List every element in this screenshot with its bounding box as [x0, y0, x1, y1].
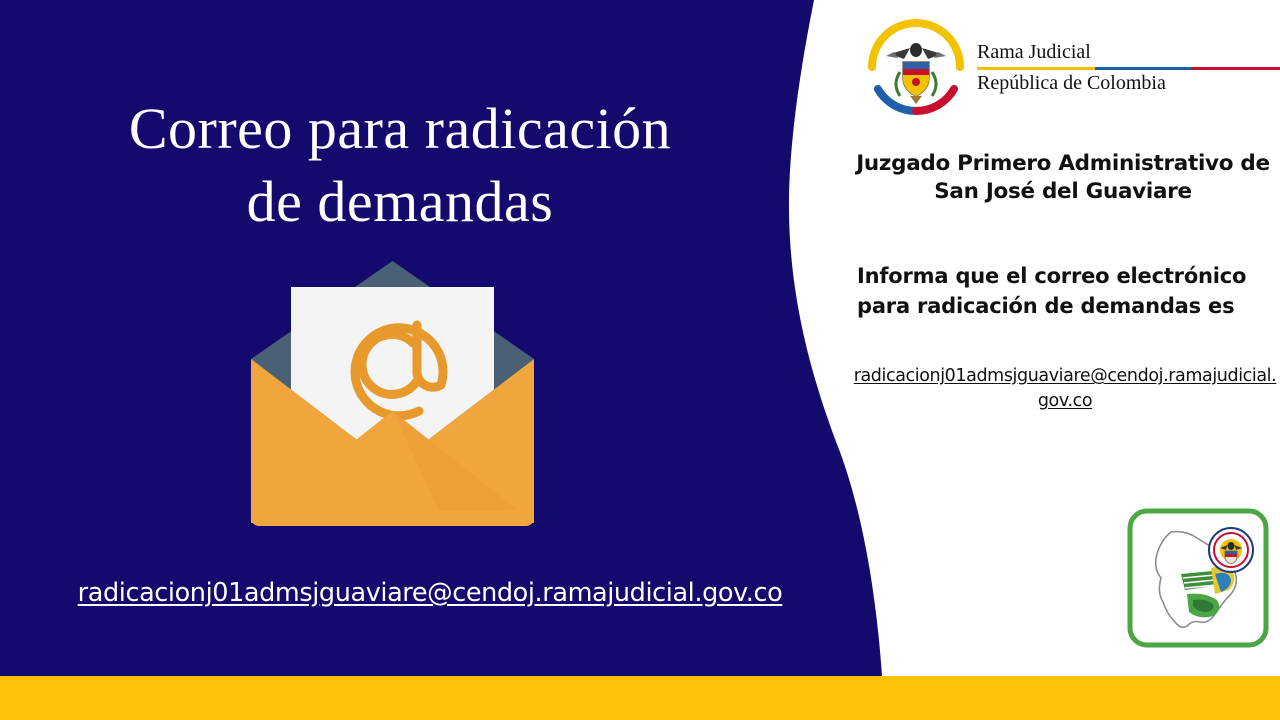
page-title-line-2: de demandas [20, 165, 780, 238]
rule-segment-yellow [977, 67, 1095, 70]
brand-text-block: Rama Judicial República de Colombia [977, 38, 1280, 96]
notice-line-1: Informa que el correo electrónico [857, 262, 1277, 292]
notice-line-2: para radicación de demandas es [857, 292, 1277, 322]
right-column: Rama Judicial República de Colombia Juzg… [845, 0, 1280, 676]
brand-line-2: República de Colombia [977, 71, 1280, 97]
page-title-line-1: Correo para radicación [20, 92, 780, 165]
email-link-secondary[interactable]: radicacionj01admsjguaviare@cendoj.ramaju… [853, 364, 1277, 414]
email-link-primary[interactable]: radicacionj01admsjguaviare@cendoj.ramaju… [0, 578, 860, 608]
slide-canvas: Correo para radicación de demandas [0, 0, 1280, 720]
left-column: Correo para radicación de demandas [0, 0, 800, 676]
colombia-map-judicial-emblem-icon [1127, 508, 1269, 648]
colombia-coat-of-arms-seal-icon [865, 16, 967, 118]
brand-line-1: Rama Judicial [977, 40, 1280, 66]
notice-text: Informa que el correo electrónico para r… [857, 262, 1277, 322]
footer-yellow-bar [0, 676, 1280, 720]
rule-segment-blue [1095, 67, 1191, 70]
court-name-heading: Juzgado Primero Administrativo de San Jo… [853, 150, 1273, 207]
page-title: Correo para radicación de demandas [20, 92, 780, 238]
envelope-icon [245, 255, 540, 535]
tricolor-rule [977, 67, 1280, 70]
rama-judicial-logo: Rama Judicial República de Colombia [865, 14, 1275, 120]
rule-segment-red [1191, 67, 1280, 70]
